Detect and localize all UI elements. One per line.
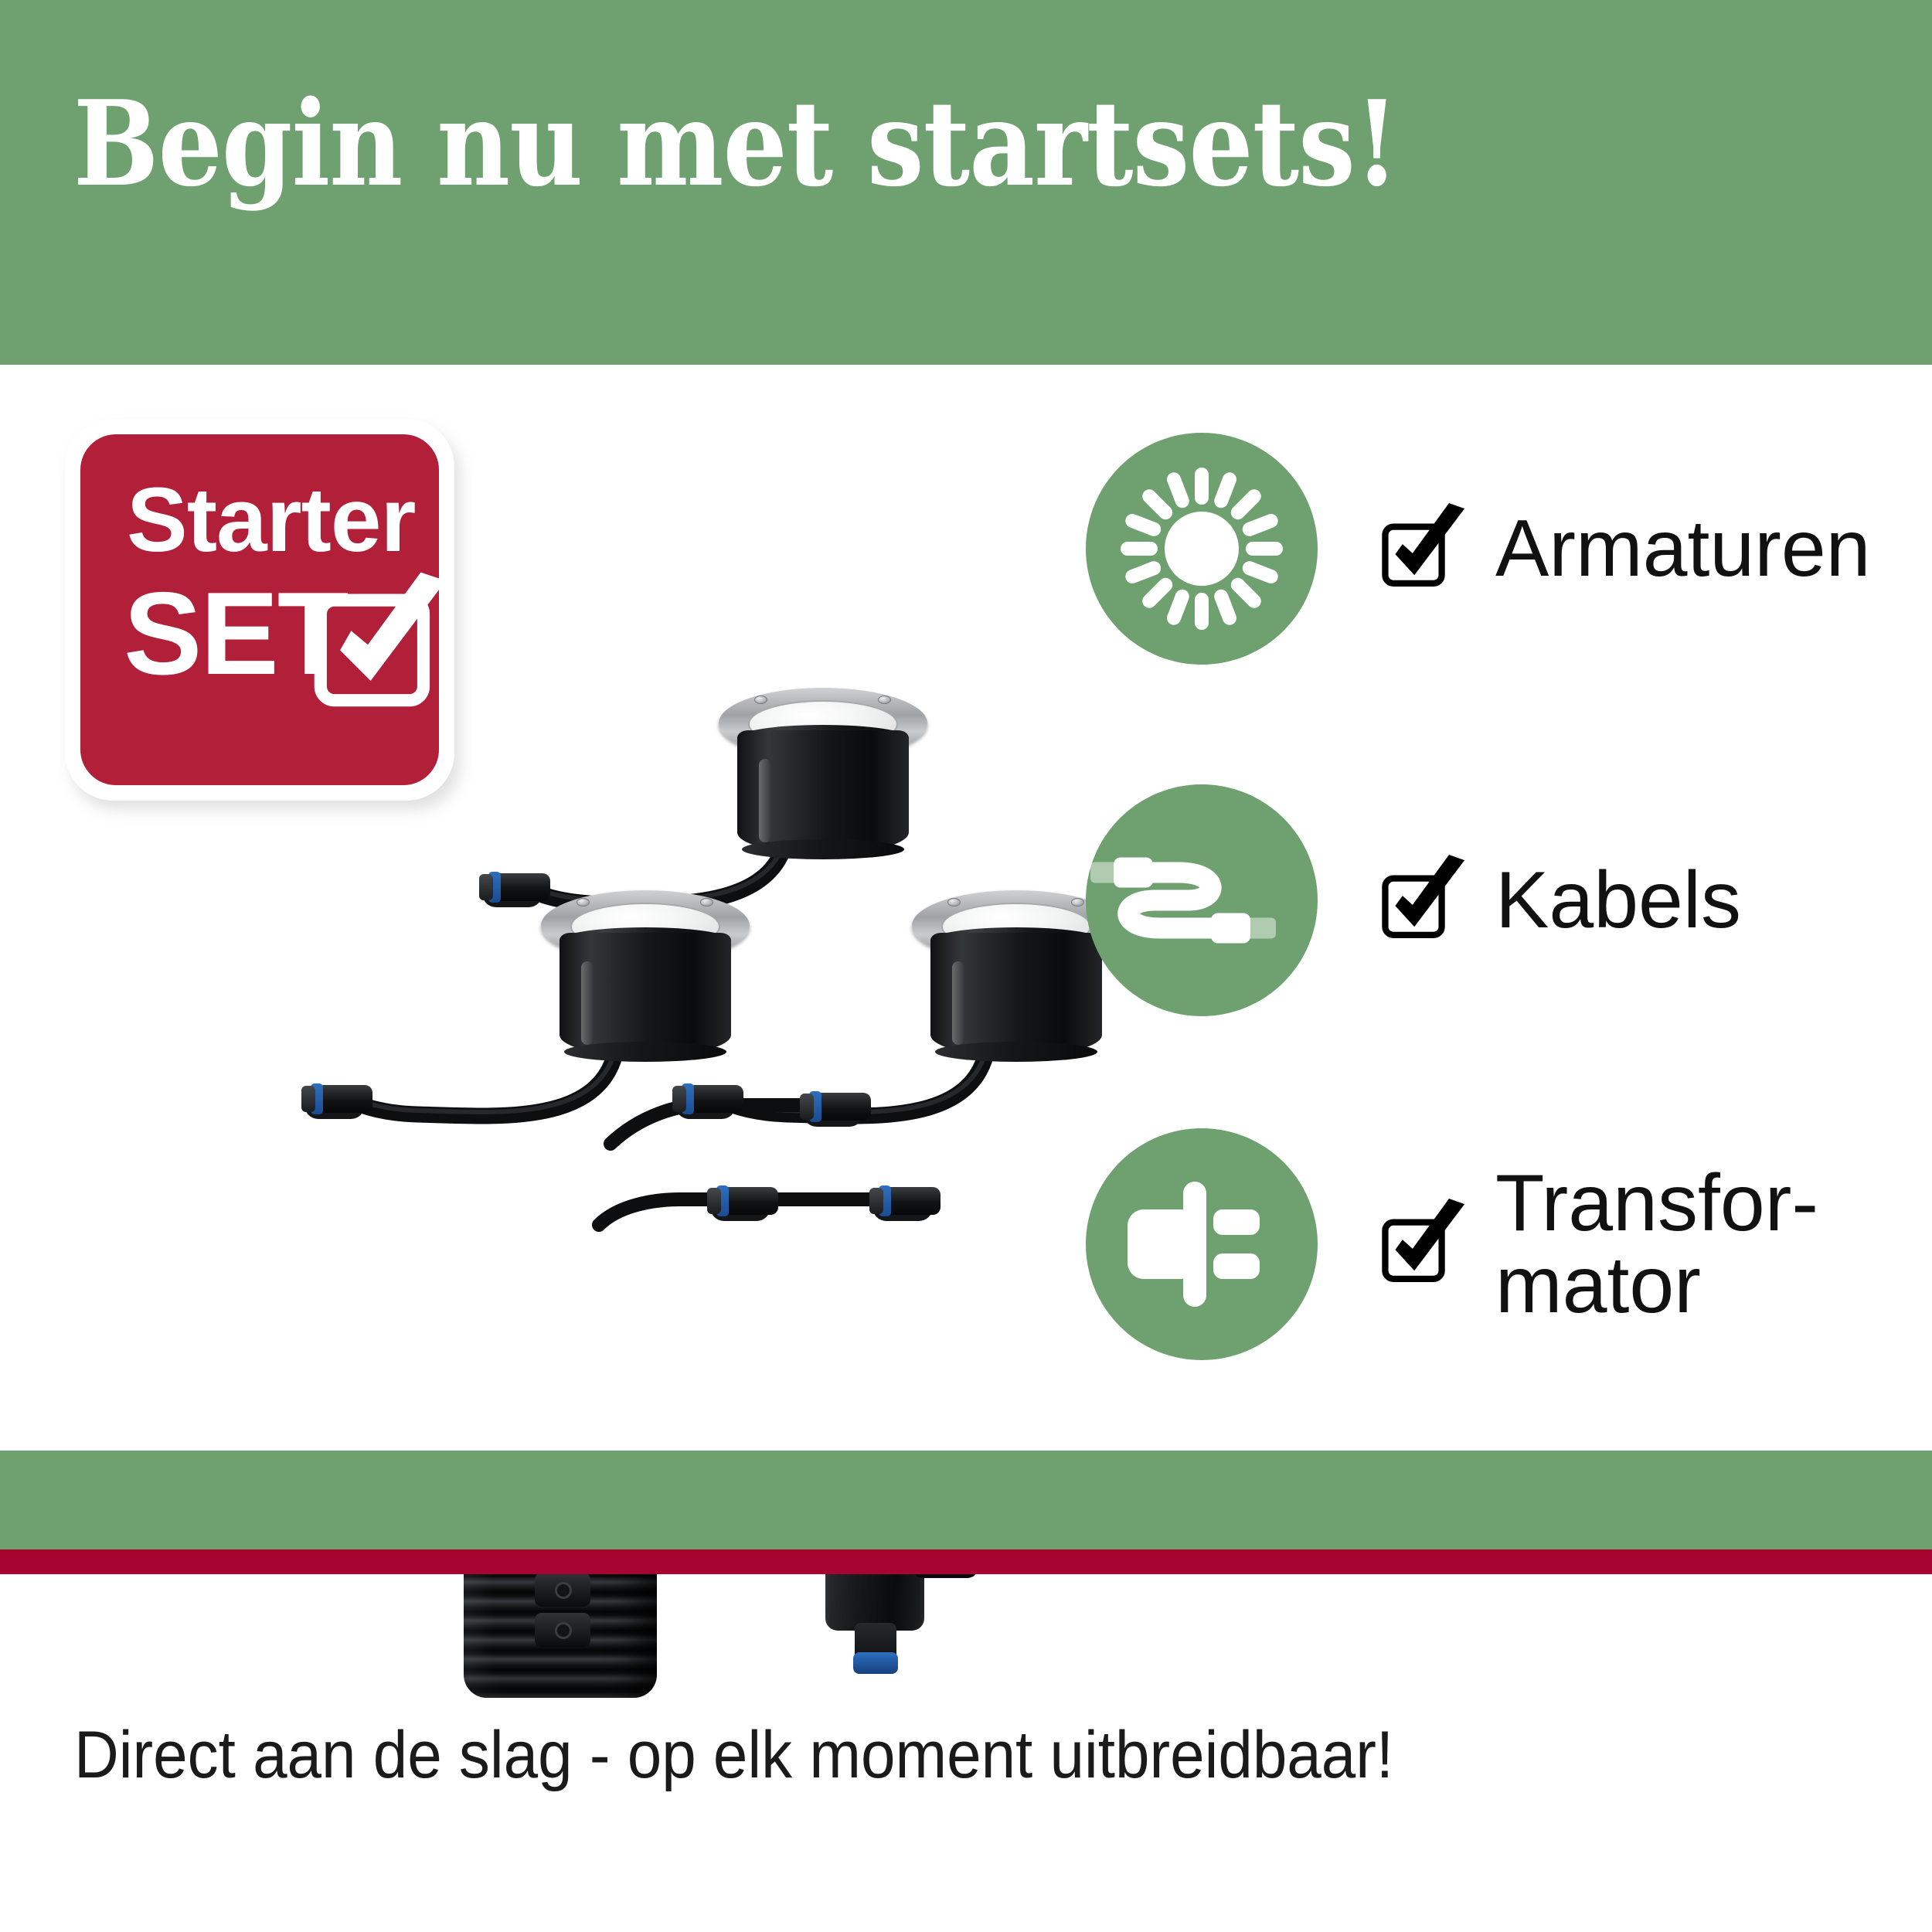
- checkbox-checked-icon: [1378, 855, 1469, 946]
- spotlight-highlight: [759, 759, 771, 842]
- feature-icon-circle: [1086, 784, 1318, 1016]
- spotlight-body-bottom: [564, 1042, 726, 1062]
- product-group: [0, 371, 1082, 1437]
- cable-connector: [301, 1082, 372, 1116]
- footer-text: Direct aan de slag - op elk moment uitbr…: [74, 1717, 1393, 1794]
- cable-connector: [479, 870, 550, 904]
- feature-icon-circle: [1086, 433, 1318, 665]
- feature-row-armaturen: Armaturen: [1086, 433, 1871, 665]
- plug-icon: [1086, 1128, 1318, 1360]
- spotlight-highlight: [952, 961, 964, 1045]
- cable-connector: [800, 1090, 871, 1124]
- checkbox-checked-icon: [1378, 1199, 1469, 1290]
- cable-connector: [707, 1184, 778, 1218]
- header-bar: Begin nu met startsets!: [0, 0, 1932, 365]
- spotlight-screw: [878, 696, 891, 704]
- cable-connector: [869, 1184, 940, 1218]
- spotlight-screw: [754, 696, 767, 704]
- page-title: Begin nu met startsets!: [73, 85, 1399, 202]
- footer-red-bar: [0, 1549, 1932, 1574]
- feature-row-transformator: Transfor- mator: [1086, 1128, 1818, 1360]
- promo-banner: Begin nu met startsets! Starter SET: [0, 0, 1932, 1932]
- cable-connector: [672, 1082, 743, 1116]
- feature-label: Kabels: [1495, 859, 1741, 941]
- feature-list: Armaturen Kabels: [1086, 433, 1905, 1406]
- checkbox-checked-icon: [1378, 503, 1469, 594]
- feature-label: Armaturen: [1495, 508, 1871, 590]
- spotlight-screw: [577, 898, 590, 906]
- feature-icon-circle: [1086, 1128, 1318, 1360]
- ground-spotlight-1: [719, 688, 927, 866]
- footer-green-bar: [0, 1451, 1932, 1549]
- spotlight-screw: [947, 898, 961, 906]
- sun-icon: [1086, 433, 1318, 665]
- spotlight-body-bottom: [935, 1042, 1097, 1062]
- spotlight-body-bottom: [742, 839, 904, 859]
- feature-label: Transfor- mator: [1495, 1162, 1818, 1326]
- cable-clip: [535, 1613, 590, 1647]
- spotlight-highlight: [581, 961, 594, 1045]
- cable-icon: [1086, 784, 1318, 1016]
- spotlight-screw: [1071, 898, 1084, 906]
- cable-clip: [535, 1573, 590, 1607]
- spotlight-screw: [700, 898, 713, 906]
- ground-spotlight-2: [541, 890, 750, 1068]
- transformer-output-ring: [853, 1652, 898, 1674]
- feature-row-kabels: Kabels: [1086, 784, 1741, 1016]
